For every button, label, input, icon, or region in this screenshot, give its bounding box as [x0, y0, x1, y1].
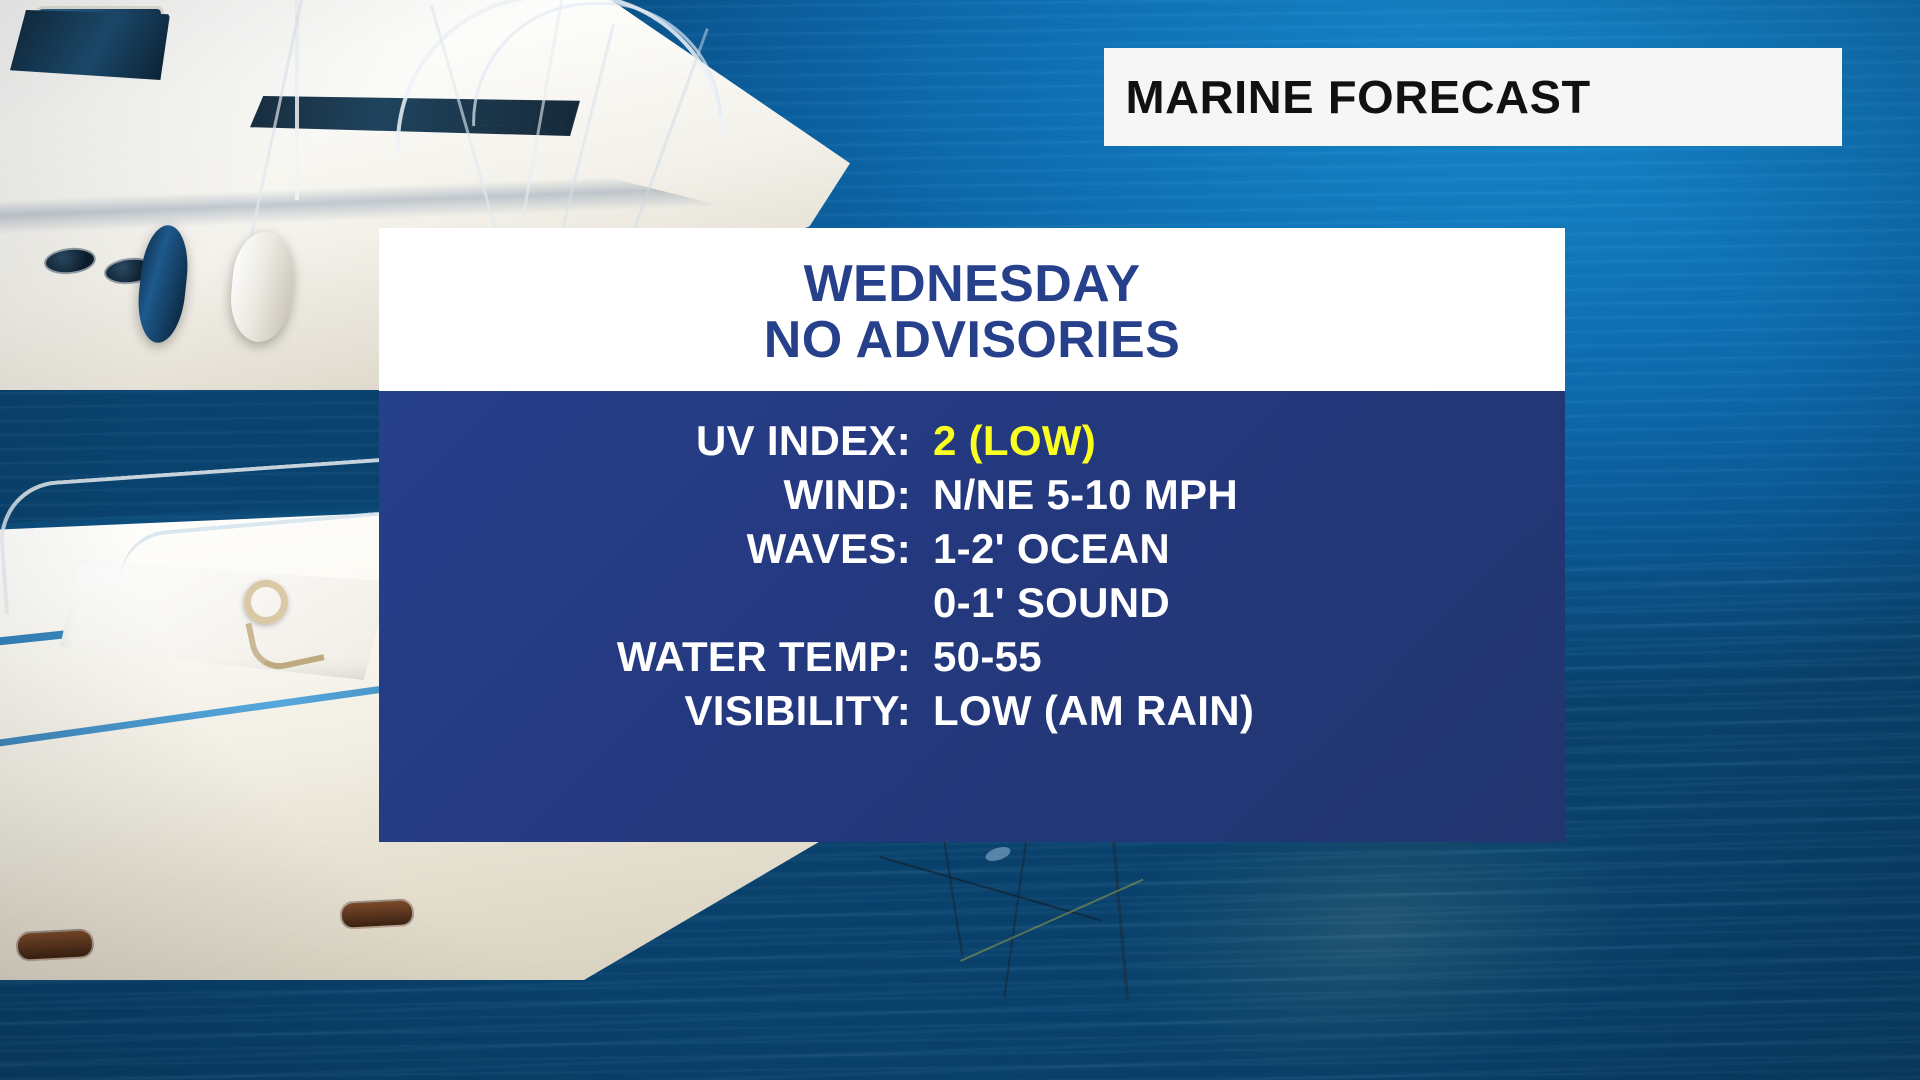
uv-index-value: 2 (LOW)	[933, 417, 1096, 465]
forecast-row-uv-index: UV INDEX: 2 (LOW)	[379, 417, 1565, 465]
uv-index-label: UV INDEX:	[379, 417, 933, 465]
waves-value-sound: 0-1' SOUND	[933, 579, 1170, 627]
forecast-graphic: MARINE FORECAST WEDNESDAY NO ADVISORIES …	[0, 0, 1920, 1080]
wind-label: WIND:	[379, 471, 933, 519]
water-temp-label: WATER TEMP:	[379, 633, 933, 681]
forecast-row-waves: WAVES: 1-2' OCEAN	[379, 525, 1565, 573]
forecast-card: WEDNESDAY NO ADVISORIES UV INDEX: 2 (LOW…	[379, 228, 1565, 842]
visibility-label: VISIBILITY:	[379, 687, 933, 735]
forecast-row-wind: WIND: N/NE 5-10 MPH	[379, 471, 1565, 519]
forecast-detail-list: UV INDEX: 2 (LOW) WIND: N/NE 5-10 MPH WA…	[379, 391, 1565, 842]
banner-title: MARINE FORECAST	[1125, 70, 1590, 124]
forecast-row-water-temp: WATER TEMP: 50-55	[379, 633, 1565, 681]
water-temp-value: 50-55	[933, 633, 1042, 681]
advisory-status: NO ADVISORIES	[764, 313, 1180, 368]
forecast-card-header: WEDNESDAY NO ADVISORIES	[379, 228, 1565, 391]
marine-forecast-banner: MARINE FORECAST	[1104, 48, 1842, 146]
visibility-value: LOW (AM RAIN)	[933, 687, 1254, 735]
forecast-row-visibility: VISIBILITY: LOW (AM RAIN)	[379, 687, 1565, 735]
forecast-row-waves-sound: 0-1' SOUND	[379, 579, 1565, 627]
waves-value-ocean: 1-2' OCEAN	[933, 525, 1170, 573]
wind-value: N/NE 5-10 MPH	[933, 471, 1238, 519]
waves-label: WAVES:	[379, 525, 933, 573]
forecast-day: WEDNESDAY	[804, 257, 1141, 312]
